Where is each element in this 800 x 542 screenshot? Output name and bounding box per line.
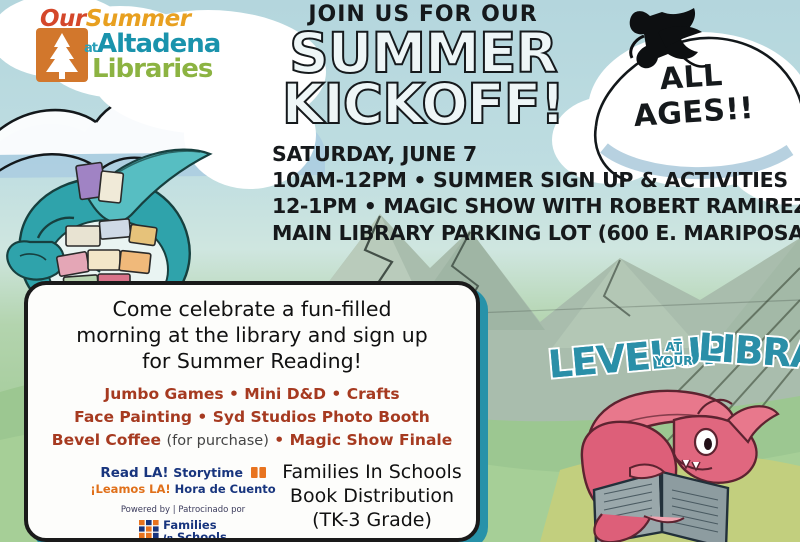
card-intro-text: Come celebrate a fun-filled morning at t… [46,296,458,375]
sponsor-in-text: In [163,534,173,542]
book-distribution-block: Families In Schools Book Distribution (T… [274,461,470,533]
families-in-schools-logo-icon [139,520,159,542]
activities-line-3: Bevel Coffee (for purchase) • Magic Show… [38,429,466,453]
sponsor-schools-text: Schools [177,530,227,542]
read-la-storytime-block: Read LA! Storytime ¡Leamos LA! Hora de C… [88,465,278,542]
activities-list: Jumbo Games • Mini D&D • Crafts Face Pai… [38,383,466,453]
families-in-schools-sponsor: Families In Schools [88,519,278,542]
activity-magic-show-finale: • Magic Show Finale [274,431,452,449]
info-card: Come celebrate a fun-filled morning at t… [24,281,480,542]
hora-de-cuento: Hora de Cuento [175,482,276,496]
leamos-la-brand: ¡Leamos LA! [90,482,170,496]
card-intro-line-2: morning at the library and sign up [46,322,458,348]
families-in-schools-wordmark: Families In Schools [163,519,227,542]
open-book-icon [251,466,266,477]
activities-line-1: Jumbo Games • Mini D&D • Crafts [38,383,466,406]
powered-by-label: Powered by | Patrocinado por [88,505,278,515]
card-intro-line-1: Come celebrate a fun-filled [46,296,458,322]
book-distribution-line-3: (TK-3 Grade) [274,509,470,533]
activities-line-2: Face Painting • Syd Studios Photo Booth [38,406,466,429]
card-intro-line-3: for Summer Reading! [46,348,458,374]
activity-bevel-coffee-note: (for purchase) [166,433,268,449]
read-la-brand: Read LA! [100,465,168,481]
read-la-storytime: Storytime [173,465,243,480]
book-distribution-line-2: Book Distribution [274,485,470,509]
book-distribution-line-1: Families In Schools [274,461,470,485]
read-la-title-es: ¡Leamos LA! Hora de Cuento [88,482,278,496]
activity-bevel-coffee: Bevel Coffee [52,431,161,449]
summer-kickoff-flyer: OurSummer atAltadena Libraries JOIN US F… [0,0,800,542]
read-la-title-en: Read LA! Storytime [88,465,278,481]
